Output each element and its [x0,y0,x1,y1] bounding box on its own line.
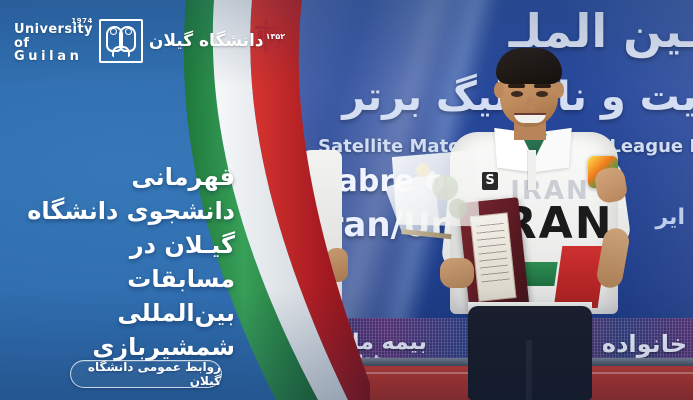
credit-badge-label: روابط عمومی دانشگاه گیلان [71,360,221,388]
university-of-guilan-logo[interactable]: 1974 University of Guilan ۱۳۵۲دانشگاه گی… [14,16,204,66]
guilan-crest-icon [99,19,143,63]
logo-persian-text: ۱۳۵۲دانشگاه گیلان [149,31,287,51]
logo-english-line-1: University of [14,23,93,50]
logo-english-text: 1974 University of Guilan [14,18,93,64]
page-title: قهرمانی دانشجوی دانشگاه گیـلان در مسابقا… [25,160,235,364]
logo-persian-name: دانشگاه گیلان [149,31,264,51]
logo-founded-year-fa: ۱۳۵۲ [266,32,286,41]
logo-english-line-2: Guilan [14,50,93,64]
credit-badge[interactable]: روابط عمومی دانشگاه گیلان [70,360,222,388]
news-banner: ـین الملـ یت و نال لیگ برتر Satellite Ma… [0,0,693,400]
